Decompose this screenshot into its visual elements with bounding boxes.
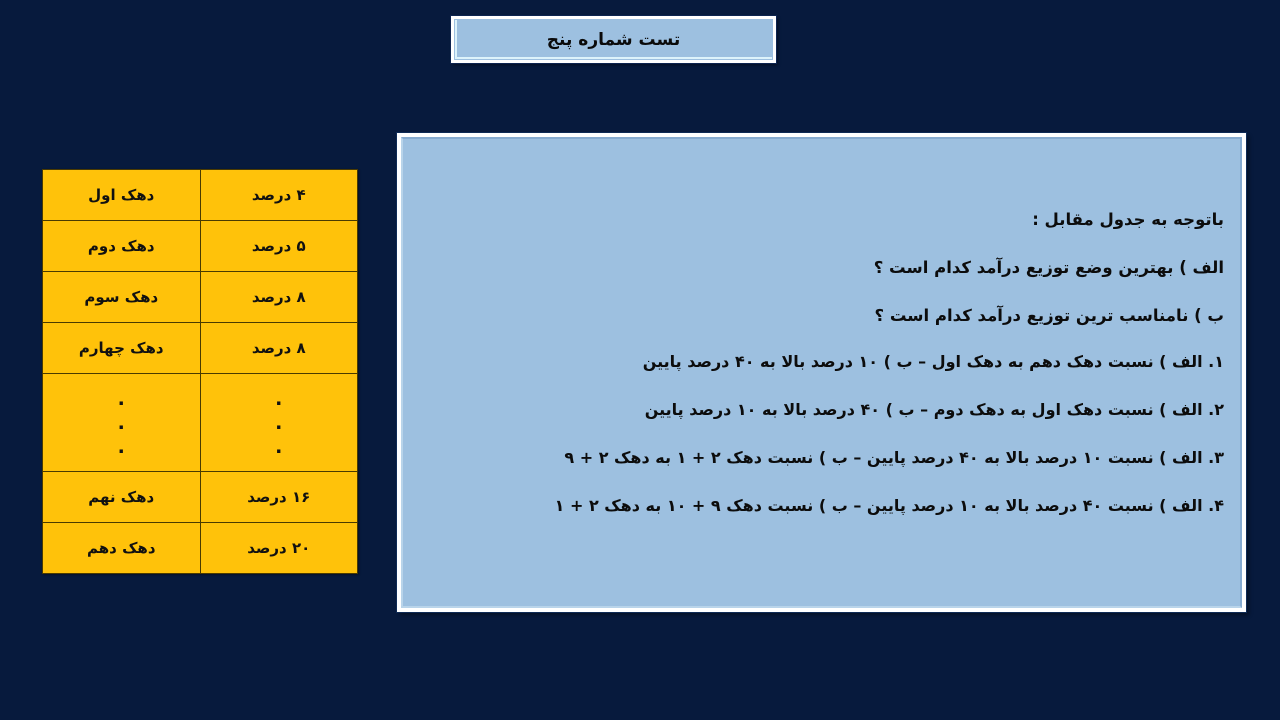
table-cell-decile: دهک دوم <box>43 221 201 272</box>
question-stem-intro: باتوجه به جدول مقابل : <box>419 209 1224 230</box>
ellipsis-dot: . <box>43 435 200 459</box>
ellipsis-dot: . <box>201 435 357 459</box>
table-row: ۴ درصد دهک اول <box>43 170 358 221</box>
table-cell-decile: دهک سوم <box>43 272 201 323</box>
table-row: ۸ درصد دهک سوم <box>43 272 358 323</box>
answer-option-2[interactable]: ۲. الف ) نسبت دهک اول به دهک دوم – ب ) ۴… <box>419 400 1224 421</box>
table-cell-percent: ۸ درصد <box>200 323 357 374</box>
table-cell-ellipsis-percent: . . . <box>200 374 357 472</box>
table-cell-decile: دهک نهم <box>43 472 201 523</box>
table-cell-decile: دهک دهم <box>43 523 201 574</box>
table-row: ۱۶ درصد دهک نهم <box>43 472 358 523</box>
table-cell-decile: دهک چهارم <box>43 323 201 374</box>
table-row-ellipsis: . . . . . . <box>43 374 358 472</box>
ellipsis-dot: . <box>201 387 357 411</box>
ellipsis-dot: . <box>43 387 200 411</box>
table-cell-ellipsis-decile: . . . <box>43 374 201 472</box>
ellipsis-dot: . <box>43 411 200 435</box>
table-cell-percent: ۲۰ درصد <box>200 523 357 574</box>
answer-option-4[interactable]: ۴. الف ) نسبت ۴۰ درصد بالا به ۱۰ درصد پا… <box>419 496 1224 517</box>
decile-distribution-table: ۴ درصد دهک اول ۵ درصد دهک دوم ۸ درصد دهک… <box>42 169 358 574</box>
table-cell-percent: ۵ درصد <box>200 221 357 272</box>
ellipsis-dot: . <box>201 411 357 435</box>
table-cell-decile: دهک اول <box>43 170 201 221</box>
answer-option-3[interactable]: ۳. الف ) نسبت ۱۰ درصد بالا به ۴۰ درصد پا… <box>419 448 1224 469</box>
table-cell-percent: ۸ درصد <box>200 272 357 323</box>
table-cell-percent: ۴ درصد <box>200 170 357 221</box>
table-row: ۵ درصد دهک دوم <box>43 221 358 272</box>
question-content: باتوجه به جدول مقابل : الف ) بهترین وضع … <box>419 209 1224 517</box>
table-row: ۲۰ درصد دهک دهم <box>43 523 358 574</box>
slide-title-banner: تست شماره پنج <box>451 16 776 63</box>
answer-option-1[interactable]: ۱. الف ) نسبت دهک دهم به دهک اول – ب ) ۱… <box>419 352 1224 373</box>
question-stem-part-b: ب ) نامناسب ترین توزیع درآمد کدام است ؟ <box>419 305 1224 326</box>
question-stem-part-a: الف ) بهترین وضع توزیع درآمد کدام است ؟ <box>419 257 1224 278</box>
table-cell-percent: ۱۶ درصد <box>200 472 357 523</box>
table-row: ۸ درصد دهک چهارم <box>43 323 358 374</box>
question-panel: باتوجه به جدول مقابل : الف ) بهترین وضع … <box>397 133 1246 612</box>
page-title: تست شماره پنج <box>547 30 680 50</box>
